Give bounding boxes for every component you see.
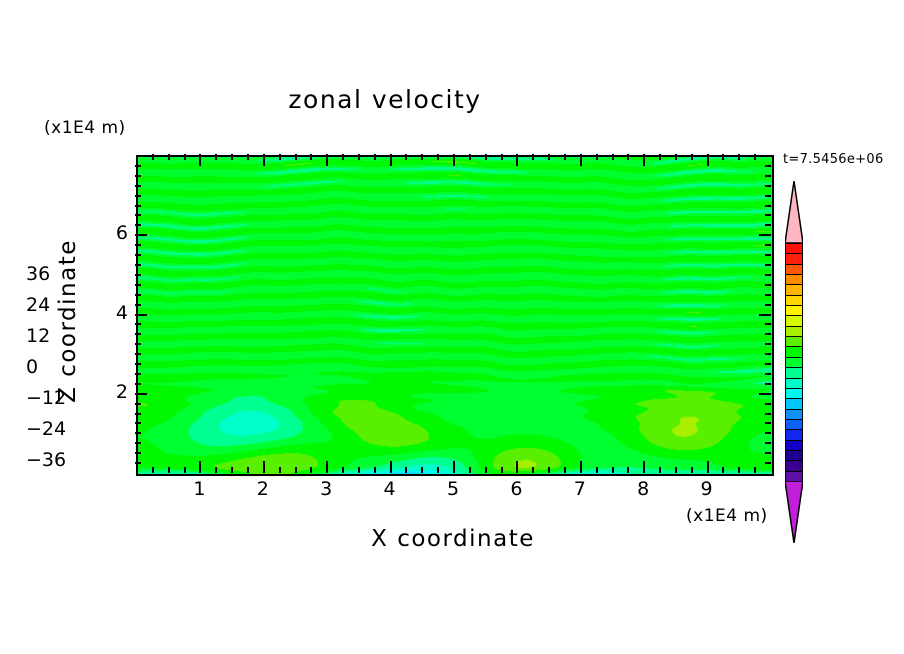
x-minor-tick-top — [612, 154, 614, 160]
x-major-tick — [643, 461, 645, 473]
x-major-tick-top — [453, 154, 455, 166]
colorbar-band — [786, 316, 802, 326]
x-minor-tick — [501, 467, 503, 473]
x-minor-tick — [612, 467, 614, 473]
colorbar-band — [786, 399, 802, 409]
y-minor-tick — [135, 175, 141, 177]
x-tick-label: 1 — [179, 478, 219, 500]
colorbar-band — [786, 265, 802, 275]
x-major-tick — [199, 461, 201, 473]
y-minor-tick — [135, 244, 141, 246]
y-minor-tick — [135, 462, 141, 464]
x-minor-tick-top — [231, 154, 233, 160]
x-major-tick — [453, 461, 455, 473]
x-minor-tick-top — [437, 154, 439, 160]
y-minor-tick-right — [765, 462, 771, 464]
y-major-tick-right — [759, 393, 771, 395]
y-minor-tick — [135, 205, 141, 207]
x-minor-tick — [564, 467, 566, 473]
x-minor-tick — [437, 467, 439, 473]
y-minor-tick-right — [765, 254, 771, 256]
x-major-tick-top — [326, 154, 328, 166]
y-minor-tick — [135, 284, 141, 286]
x-minor-tick-top — [675, 154, 677, 160]
x-minor-tick-top — [342, 154, 344, 160]
x-minor-tick-top — [738, 154, 740, 160]
x-minor-tick — [374, 467, 376, 473]
colorbar-band — [786, 379, 802, 389]
y-minor-tick-right — [765, 413, 771, 415]
x-minor-tick — [168, 467, 170, 473]
x-major-tick — [580, 461, 582, 473]
y-minor-tick-right — [765, 353, 771, 355]
x-minor-tick-top — [485, 154, 487, 160]
x-tick-label: 2 — [243, 478, 283, 500]
y-minor-tick-right — [765, 432, 771, 434]
x-minor-tick — [596, 467, 598, 473]
x-minor-tick-top — [374, 154, 376, 160]
y-minor-tick — [135, 452, 141, 454]
x-minor-tick — [627, 467, 629, 473]
x-tick-label: 5 — [433, 478, 473, 500]
x-minor-tick — [485, 467, 487, 473]
contour-field-canvas — [138, 157, 772, 474]
colorbar-band — [786, 451, 802, 461]
colorbar-band — [786, 420, 802, 430]
y-minor-tick — [135, 264, 141, 266]
y-minor-tick-right — [765, 383, 771, 385]
x-tick-label: 4 — [370, 478, 410, 500]
x-minor-tick-top — [247, 154, 249, 160]
x-major-tick-top — [263, 154, 265, 166]
x-major-tick — [707, 461, 709, 473]
x-minor-tick-top — [295, 154, 297, 160]
x-minor-tick — [548, 467, 550, 473]
y-minor-tick-right — [765, 422, 771, 424]
colorbar-band — [786, 337, 802, 347]
y-minor-tick-right — [765, 343, 771, 345]
colorbar-tick-label: −24 — [26, 418, 66, 440]
x-minor-tick-top — [691, 154, 693, 160]
x-tick-label: 3 — [306, 478, 346, 500]
x-major-tick-top — [643, 154, 645, 166]
x-major-tick — [263, 461, 265, 473]
y-axis-unit-label: (x1E4 m) — [44, 118, 126, 138]
x-minor-tick — [279, 467, 281, 473]
x-major-tick-top — [707, 154, 709, 166]
y-minor-tick — [135, 323, 141, 325]
x-minor-tick — [659, 467, 661, 473]
y-major-tick — [135, 393, 147, 395]
colorbar-band — [786, 389, 802, 399]
contour-plot-area — [136, 155, 774, 476]
x-major-tick — [390, 461, 392, 473]
x-minor-tick-top — [501, 154, 503, 160]
y-minor-tick-right — [765, 274, 771, 276]
y-minor-tick-right — [765, 264, 771, 266]
y-minor-tick — [135, 432, 141, 434]
y-minor-tick-right — [765, 373, 771, 375]
y-minor-tick-right — [765, 284, 771, 286]
colorbar-band — [786, 461, 802, 471]
y-minor-tick — [135, 422, 141, 424]
x-minor-tick — [532, 467, 534, 473]
x-minor-tick — [184, 467, 186, 473]
y-minor-tick-right — [765, 333, 771, 335]
y-minor-tick-right — [765, 165, 771, 167]
x-minor-tick — [754, 467, 756, 473]
y-minor-tick-right — [765, 452, 771, 454]
y-minor-tick — [135, 294, 141, 296]
timestamp-annotation: t=7.5456e+06 — [783, 152, 884, 167]
x-minor-tick-top — [358, 154, 360, 160]
y-minor-tick — [135, 185, 141, 187]
y-minor-tick-right — [765, 363, 771, 365]
colorbar-band — [786, 254, 802, 264]
y-axis-title: Z coordinate — [55, 191, 81, 451]
colorbar-tick-label: 24 — [26, 294, 50, 316]
x-minor-tick — [405, 467, 407, 473]
colorbar-band — [786, 306, 802, 316]
x-minor-tick — [342, 467, 344, 473]
x-minor-tick — [691, 467, 693, 473]
y-minor-tick-right — [765, 205, 771, 207]
y-minor-tick — [135, 363, 141, 365]
y-minor-tick-right — [765, 195, 771, 197]
y-minor-tick — [135, 333, 141, 335]
x-minor-tick-top — [215, 154, 217, 160]
y-major-tick-right — [759, 234, 771, 236]
colorbar-tick-label: 12 — [26, 325, 50, 347]
y-minor-tick — [135, 165, 141, 167]
colorbar-overflow-cap-bottom — [785, 481, 803, 543]
x-major-tick — [326, 461, 328, 473]
colorbar-band — [786, 285, 802, 295]
x-tick-label: 7 — [560, 478, 600, 500]
colorbar-band — [786, 296, 802, 306]
x-minor-tick-top — [627, 154, 629, 160]
colorbar-band — [786, 358, 802, 368]
x-minor-tick-top — [152, 154, 154, 160]
y-minor-tick — [135, 254, 141, 256]
x-minor-tick-top — [168, 154, 170, 160]
x-minor-tick-top — [548, 154, 550, 160]
colorbar-band — [786, 441, 802, 451]
y-minor-tick — [135, 274, 141, 276]
x-axis-title: X coordinate — [136, 526, 770, 552]
colorbar-band — [786, 275, 802, 285]
y-major-tick — [135, 234, 147, 236]
y-minor-tick-right — [765, 304, 771, 306]
x-minor-tick-top — [405, 154, 407, 160]
x-minor-tick-top — [754, 154, 756, 160]
x-minor-tick — [215, 467, 217, 473]
y-minor-tick — [135, 413, 141, 415]
x-minor-tick-top — [659, 154, 661, 160]
colorbar-tick-label: −36 — [26, 449, 66, 471]
x-minor-tick-top — [722, 154, 724, 160]
colorbar — [785, 243, 803, 481]
x-minor-tick — [152, 467, 154, 473]
y-minor-tick — [135, 442, 141, 444]
y-minor-tick — [135, 224, 141, 226]
y-minor-tick — [135, 214, 141, 216]
x-minor-tick — [469, 467, 471, 473]
page-title: zonal velocity — [0, 85, 770, 114]
x-minor-tick-top — [310, 154, 312, 160]
colorbar-tick-label: 36 — [26, 263, 50, 285]
y-minor-tick-right — [765, 403, 771, 405]
colorbar-band — [786, 244, 802, 254]
y-minor-tick-right — [765, 185, 771, 187]
x-major-tick-top — [516, 154, 518, 166]
y-minor-tick — [135, 383, 141, 385]
x-minor-tick-top — [184, 154, 186, 160]
y-minor-tick-right — [765, 442, 771, 444]
x-minor-tick — [295, 467, 297, 473]
y-tick-label: 6 — [98, 222, 128, 244]
colorbar-band — [786, 410, 802, 420]
y-minor-tick — [135, 343, 141, 345]
y-tick-label: 2 — [98, 381, 128, 403]
x-minor-tick-top — [596, 154, 598, 160]
x-minor-tick — [247, 467, 249, 473]
colorbar-bands — [785, 243, 803, 481]
x-minor-tick — [310, 467, 312, 473]
x-tick-label: 9 — [687, 478, 727, 500]
y-tick-label: 4 — [98, 302, 128, 324]
colorbar-overflow-cap-top — [785, 181, 803, 243]
y-minor-tick-right — [765, 323, 771, 325]
x-major-tick-top — [580, 154, 582, 166]
colorbar-band — [786, 347, 802, 357]
x-tick-label: 8 — [623, 478, 663, 500]
x-minor-tick-top — [469, 154, 471, 160]
y-minor-tick-right — [765, 294, 771, 296]
x-minor-tick — [675, 467, 677, 473]
y-minor-tick — [135, 195, 141, 197]
colorbar-band — [786, 327, 802, 337]
x-minor-tick — [421, 467, 423, 473]
y-minor-tick-right — [765, 214, 771, 216]
y-minor-tick-right — [765, 175, 771, 177]
x-minor-tick — [358, 467, 360, 473]
y-major-tick — [135, 314, 147, 316]
colorbar-tick-label: −12 — [26, 387, 66, 409]
x-minor-tick-top — [532, 154, 534, 160]
y-minor-tick — [135, 304, 141, 306]
colorbar-tick-label: 0 — [26, 356, 38, 378]
colorbar-band — [786, 368, 802, 378]
y-minor-tick-right — [765, 224, 771, 226]
x-major-tick-top — [390, 154, 392, 166]
x-minor-tick — [738, 467, 740, 473]
y-minor-tick — [135, 353, 141, 355]
x-axis-unit-label: (x1E4 m) — [686, 506, 768, 526]
x-major-tick-top — [199, 154, 201, 166]
x-minor-tick-top — [279, 154, 281, 160]
colorbar-band — [786, 430, 802, 440]
x-tick-label: 6 — [496, 478, 536, 500]
y-minor-tick — [135, 373, 141, 375]
x-minor-tick — [722, 467, 724, 473]
y-minor-tick-right — [765, 244, 771, 246]
x-minor-tick-top — [564, 154, 566, 160]
y-minor-tick — [135, 403, 141, 405]
x-minor-tick-top — [421, 154, 423, 160]
y-major-tick-right — [759, 314, 771, 316]
x-major-tick — [516, 461, 518, 473]
x-minor-tick — [231, 467, 233, 473]
